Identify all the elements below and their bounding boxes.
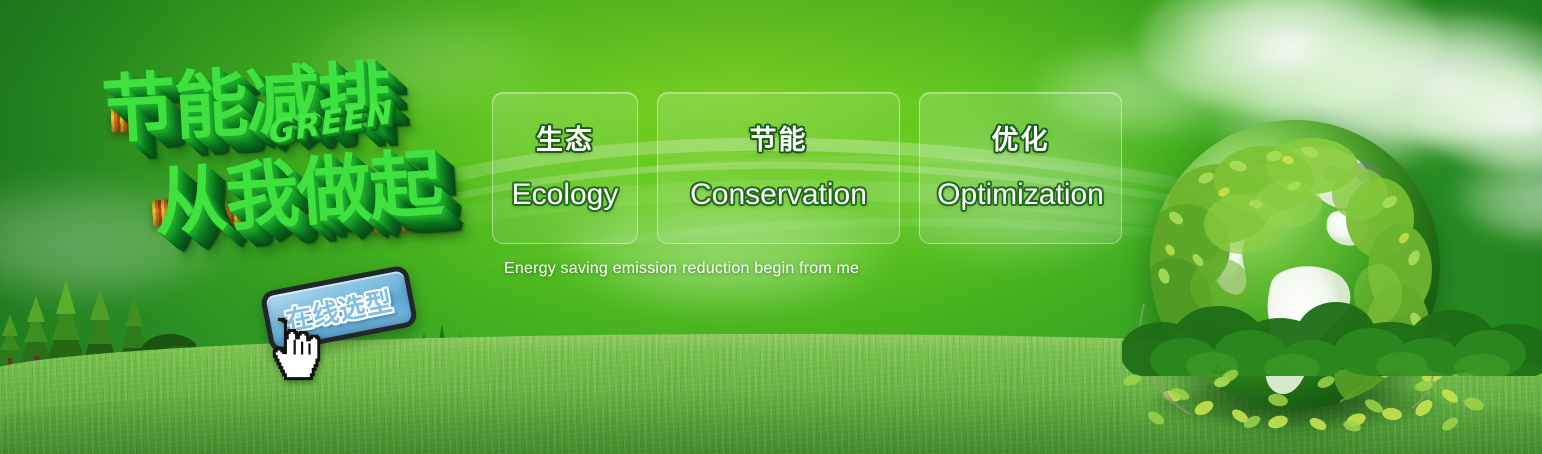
feature-label-cn: 生态 bbox=[536, 127, 594, 154]
feature-box-optimization[interactable]: 优化 Optimization bbox=[919, 92, 1122, 244]
feature-label-en: Conservation bbox=[690, 180, 867, 210]
feature-label-en: Optimization bbox=[937, 180, 1104, 210]
cta-area[interactable]: 在线选型 bbox=[252, 272, 442, 384]
feature-box-ecology[interactable]: 生态 Ecology bbox=[492, 92, 638, 244]
feature-box-group: 生态 Ecology 节能 Conservation 优化 Optimizati… bbox=[492, 92, 1122, 244]
feature-box-conservation[interactable]: 节能 Conservation bbox=[657, 92, 900, 244]
feature-label-cn: 优化 bbox=[992, 127, 1050, 154]
feature-label-en: Ecology bbox=[512, 180, 619, 210]
green-energy-banner[interactable]: 节能减排 GREEN 从我做起 生态 Ecology 节能 Conservati… bbox=[0, 0, 1542, 454]
cta-button-label: 在线选型 bbox=[282, 281, 395, 338]
tagline-text: Energy saving emission reduction begin f… bbox=[504, 260, 859, 278]
feature-label-cn: 节能 bbox=[750, 127, 808, 154]
online-selection-button[interactable]: 在线选型 bbox=[259, 264, 418, 353]
